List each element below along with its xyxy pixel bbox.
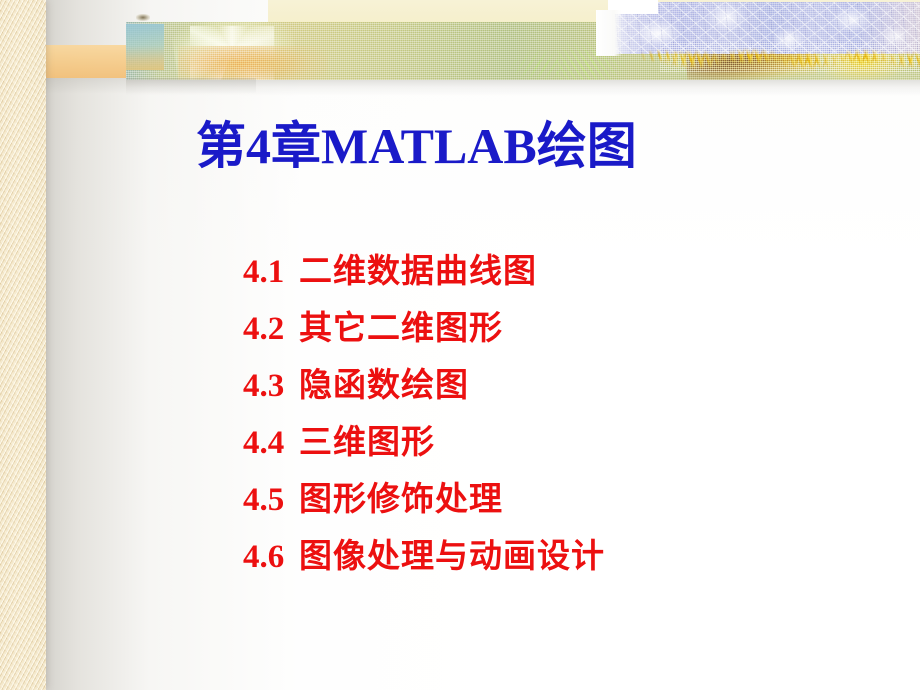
toc-item[interactable]: 4.1二维数据曲线图 (243, 250, 605, 307)
toc-item-number: 4.4 (243, 421, 299, 465)
slide-content: 第4章MATLAB绘图 4.1二维数据曲线图 4.2其它二维图形 4.3隐函数绘… (0, 0, 920, 690)
toc-item-label: 图形修饰处理 (299, 478, 503, 522)
toc-item-label: 隐函数绘图 (299, 364, 469, 408)
toc-item-number: 4.1 (243, 250, 299, 294)
toc-item[interactable]: 4.5图形修饰处理 (243, 478, 605, 535)
toc-item-label: 图像处理与动画设计 (299, 535, 605, 579)
toc-item-number: 4.6 (243, 535, 299, 579)
toc-item-label: 二维数据曲线图 (299, 250, 537, 294)
toc-item[interactable]: 4.2其它二维图形 (243, 307, 605, 364)
toc-item[interactable]: 4.3隐函数绘图 (243, 364, 605, 421)
toc-item-number: 4.2 (243, 307, 299, 351)
toc-item-label: 三维图形 (299, 421, 435, 465)
presentation-slide: 第4章MATLAB绘图 4.1二维数据曲线图 4.2其它二维图形 4.3隐函数绘… (0, 0, 920, 690)
toc-item-label: 其它二维图形 (299, 307, 503, 351)
toc-item-number: 4.3 (243, 364, 299, 408)
slide-title: 第4章MATLAB绘图 (196, 118, 637, 174)
toc-item[interactable]: 4.6图像处理与动画设计 (243, 535, 605, 592)
toc-item-number: 4.5 (243, 478, 299, 522)
toc-item[interactable]: 4.4三维图形 (243, 421, 605, 478)
table-of-contents-list: 4.1二维数据曲线图 4.2其它二维图形 4.3隐函数绘图 4.4三维图形 4.… (243, 250, 605, 592)
